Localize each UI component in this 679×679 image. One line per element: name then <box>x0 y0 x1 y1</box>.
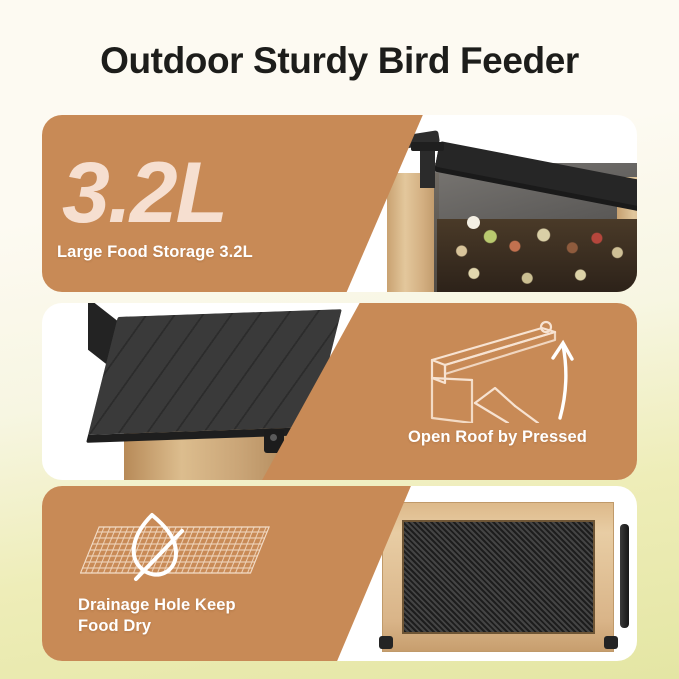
bird-seed-mix <box>437 219 637 292</box>
drainage-mesh-screen <box>402 520 595 634</box>
drainage-mesh-no-water-icon <box>80 505 280 595</box>
feeder-hanger-cap <box>411 142 444 151</box>
title-bar: Outdoor Sturdy Bird Feeder <box>0 40 679 82</box>
open-roof-icon <box>420 318 580 423</box>
volume-callout: 3.2L <box>62 150 226 236</box>
caption-large-food-storage: Large Food Storage 3.2L <box>57 242 253 263</box>
photo-highlight <box>467 216 480 229</box>
page-title: Outdoor Sturdy Bird Feeder <box>0 40 679 82</box>
caption-open-roof: Open Roof by Pressed <box>408 427 587 448</box>
base-foot-left <box>379 636 393 649</box>
caption-drainage-line-1: Drainage Hole Keep <box>78 595 236 616</box>
caption-drainage-hole: Drainage Hole Keep Food Dry <box>78 595 236 636</box>
base-hinge-rod <box>620 524 629 628</box>
base-foot-right <box>604 636 618 649</box>
caption-drainage-line-2: Food Dry <box>78 616 236 637</box>
feeder-hanger-post <box>420 146 435 188</box>
feeder-wood-left-post <box>387 173 439 292</box>
